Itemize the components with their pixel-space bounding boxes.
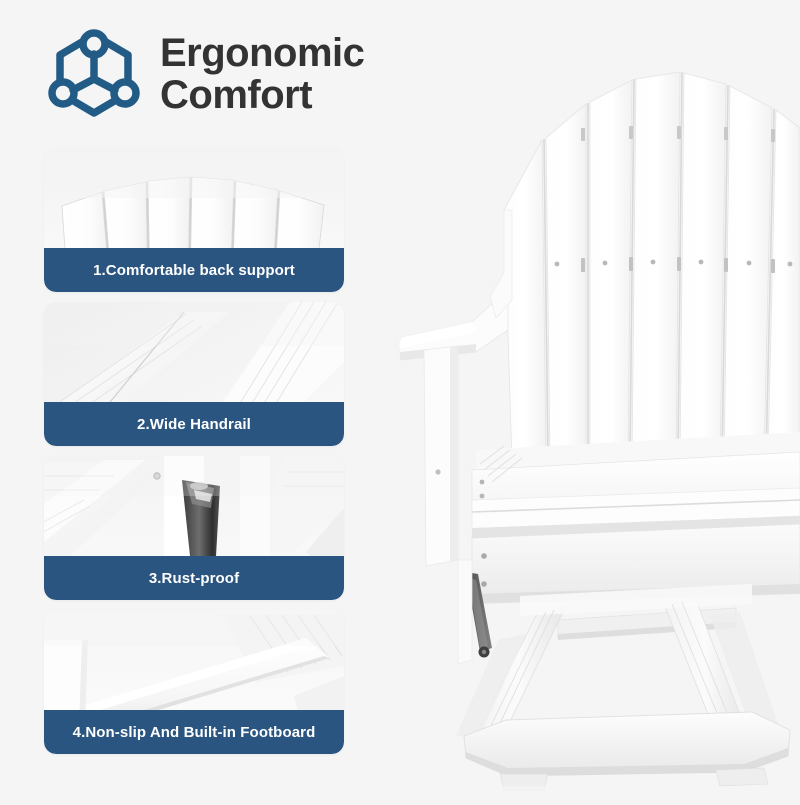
feature-card-label: 3.Rust-proof — [44, 556, 344, 600]
infographic-canvas: Ergonomic Comfort — [0, 0, 800, 800]
feature-card-list: 1.Comfortable back support — [44, 148, 344, 754]
slatted-seat — [472, 432, 800, 538]
feature-card[interactable]: 4.Non-slip And Built-in Footboard — [44, 610, 344, 754]
title-line-2: Comfort — [160, 74, 364, 116]
feature-card[interactable]: 2.Wide Handrail — [44, 302, 344, 446]
feature-card-label: 2.Wide Handrail — [44, 402, 344, 446]
page-title: Ergonomic Comfort — [160, 32, 364, 116]
armrest-support-post — [424, 346, 458, 566]
feature-card[interactable]: 3.Rust-proof — [44, 456, 344, 600]
molecule-hexagon-icon — [44, 24, 144, 124]
feature-card-label: 4.Non-slip And Built-in Footboard — [44, 710, 344, 754]
title-line-1: Ergonomic — [160, 32, 364, 74]
feature-card-label: 1.Comfortable back support — [44, 248, 344, 292]
feature-card[interactable]: 1.Comfortable back support — [44, 148, 344, 292]
white-adirondack-swivel-glider-chair — [380, 0, 800, 800]
